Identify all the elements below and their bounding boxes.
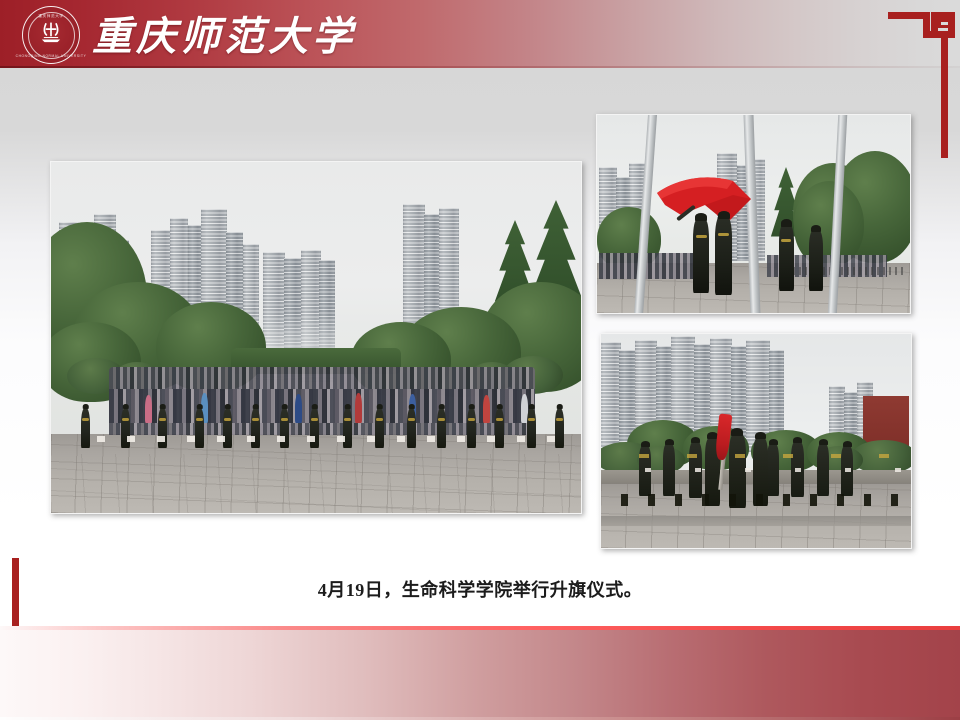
honor-guard-member: [437, 408, 446, 448]
gold-braid: [781, 239, 791, 242]
guard-cap: [811, 225, 821, 232]
honor-guard-member: [280, 408, 289, 448]
flag-raising-photo[interactable]: [596, 114, 911, 314]
guard-cap: [641, 441, 650, 447]
honor-guard-member: [223, 408, 232, 448]
flag-raiser: [715, 217, 732, 295]
honor-guard-row: [75, 400, 567, 448]
boots: [601, 494, 911, 506]
honor-guard-march-canvas: [601, 334, 911, 548]
group-photo-canvas: [51, 162, 581, 513]
university-name: 重庆师范大学: [92, 4, 356, 62]
gold-braid: [696, 235, 707, 238]
honor-guard-member: [527, 408, 536, 448]
footer-accent-line: [0, 626, 960, 630]
gold-braid: [718, 233, 729, 236]
honor-guard-member: [81, 408, 90, 448]
guard-cap: [843, 441, 852, 447]
university-seal-icon: 重庆师范大学 CHONGQING NORMAL UNIVERSITY: [22, 6, 80, 64]
guard-cap: [793, 437, 802, 443]
honor-guard-member: [809, 231, 823, 291]
seal-glyph-icon: [38, 20, 64, 46]
honor-guard-member: [467, 408, 476, 448]
gold-braids: [601, 454, 911, 458]
honor-guard-member: [779, 225, 794, 291]
paving-band: [601, 516, 911, 526]
guard-cap: [691, 437, 700, 443]
building: [601, 342, 621, 450]
guard-cap: [665, 439, 674, 445]
presentation-slide: 重庆师范大学 CHONGQING NORMAL UNIVERSITY 重庆师范大…: [0, 0, 960, 720]
honor-guard-march-photo[interactable]: [600, 333, 912, 549]
guard-cap: [731, 428, 743, 436]
flag-raising-canvas: [597, 115, 910, 313]
honor-guard-member: [121, 408, 130, 448]
honor-guard-member: [407, 408, 416, 448]
seal-ring-text-bottom: CHONGQING NORMAL UNIVERSITY: [16, 54, 87, 58]
white-gloves: [75, 436, 567, 442]
honor-guard-member: [158, 408, 167, 448]
paving-pattern: [51, 454, 581, 513]
footer-band: [0, 626, 960, 720]
honor-guard-member: [495, 408, 504, 448]
honor-guard-member: [195, 408, 204, 448]
seal-ring-text-top: 重庆师范大学: [38, 14, 63, 19]
guard-cap: [755, 432, 766, 439]
flag-raiser: [693, 219, 709, 293]
white-gloves: [601, 468, 911, 472]
honor-guard-member: [251, 408, 260, 448]
honor-guard-member: [343, 408, 352, 448]
guard-cap: [781, 219, 792, 227]
national-flag-icon: [655, 171, 767, 229]
guard-cap: [695, 213, 707, 221]
header-bar: 重庆师范大学 CHONGQING NORMAL UNIVERSITY 重庆师范大…: [0, 0, 960, 68]
honor-guard-member: [555, 408, 564, 448]
guard-cap: [718, 211, 730, 219]
group-photo-main[interactable]: [50, 161, 582, 514]
guard-cap: [819, 439, 828, 445]
guard-cap: [769, 439, 778, 445]
honor-guard-member: [375, 408, 384, 448]
slide-caption: 4月19日，生命科学学院举行升旗仪式。: [0, 576, 960, 602]
honor-guard-member: [310, 408, 319, 448]
